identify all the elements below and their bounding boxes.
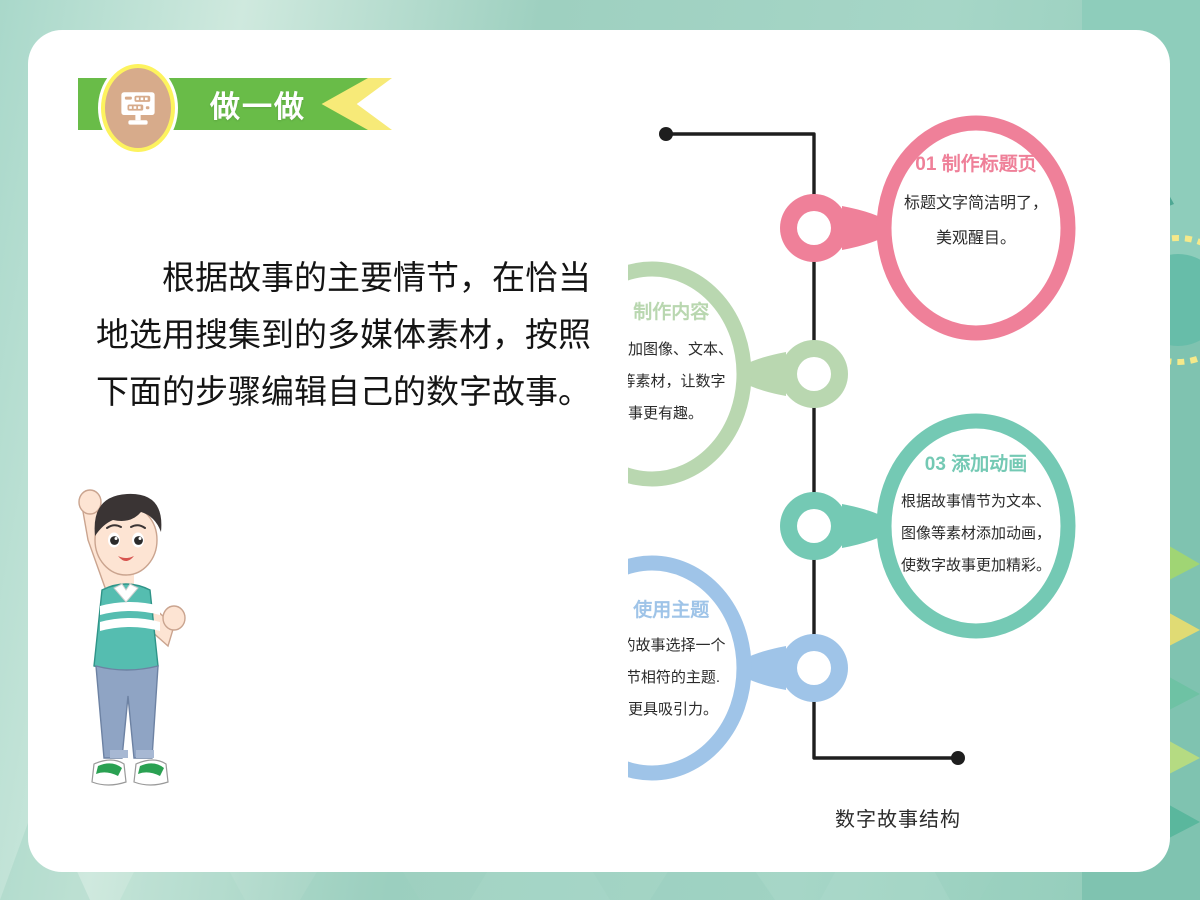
desktop-monitor-icon bbox=[117, 87, 159, 129]
diagram-step-01[interactable]: 01 制作标题页 标题文字简洁明了， 美观醒目。 bbox=[780, 123, 1068, 333]
digital-story-structure-diagram: 01 制作标题页 标题文字简洁明了， 美观醒目。 02 制作内容 适当添加图像、… bbox=[628, 88, 1168, 868]
section-banner: 做一做 bbox=[48, 54, 388, 146]
page-paragraph: 根据故事的主要情节，在恰当 地选用搜集到的多媒体素材，按照 下面的步骤编辑自己的… bbox=[96, 250, 626, 420]
step-03-ring-hole bbox=[797, 509, 831, 543]
step-01-ring-hole bbox=[797, 211, 831, 245]
step-04-line-1: 为你的故事选择一个 bbox=[628, 637, 726, 654]
step-04-line-2: 与情节相符的主题. bbox=[628, 669, 720, 686]
step-04-title: 04 使用主题 bbox=[628, 599, 709, 621]
content-card: 做一做 根据故事的主要情节，在恰当 地选用搜集到的多媒体素 bbox=[28, 30, 1170, 872]
paragraph-line-2: 地选用搜集到的多媒体素材，按照 bbox=[96, 307, 626, 364]
step-03-line-1: 根据故事情节为文本、 bbox=[901, 493, 1051, 510]
paragraph-line-1: 根据故事的主要情节，在恰当 bbox=[96, 250, 626, 307]
step-03-title: 03 添加动画 bbox=[925, 452, 1027, 475]
diagram-step-03[interactable]: 03 添加动画 根据故事情节为文本、 图像等素材添加动画， 使数字故事更加精彩。 bbox=[780, 421, 1068, 631]
step-01-title: 01 制作标题页 bbox=[915, 152, 1036, 175]
step-03-line-3: 使数字故事更加精彩。 bbox=[901, 557, 1051, 574]
step-04-bubble bbox=[628, 563, 744, 773]
diagram-caption: 数字故事结构 bbox=[628, 803, 1168, 832]
step-02-line-3: 故事更有趣。 bbox=[628, 405, 703, 422]
spine-start-dot bbox=[659, 127, 673, 141]
step-02-line-1: 适当添加图像、文本、 bbox=[628, 341, 733, 358]
step-01-line-2: 美观醒目。 bbox=[936, 229, 1016, 247]
step-03-line-2: 图像等素材添加动画， bbox=[901, 524, 1051, 542]
banner-title: 做一做 bbox=[178, 78, 338, 130]
boy-cheering-illustration bbox=[50, 478, 200, 808]
spine-end-dot bbox=[951, 751, 965, 765]
paragraph-line-3: 下面的步骤编辑自己的数字故事。 bbox=[96, 364, 626, 421]
step-01-line-1: 标题文字简洁明了， bbox=[904, 194, 1048, 212]
step-02-ring-hole bbox=[797, 357, 831, 391]
banner-badge bbox=[101, 64, 175, 152]
step-04-ring-hole bbox=[797, 651, 831, 685]
step-02-title: 02 制作内容 bbox=[628, 300, 709, 323]
step-02-line-2: 视频等素材，让数字 bbox=[628, 372, 726, 390]
step-04-line-3: 使其更具吸引力。 bbox=[628, 701, 718, 718]
